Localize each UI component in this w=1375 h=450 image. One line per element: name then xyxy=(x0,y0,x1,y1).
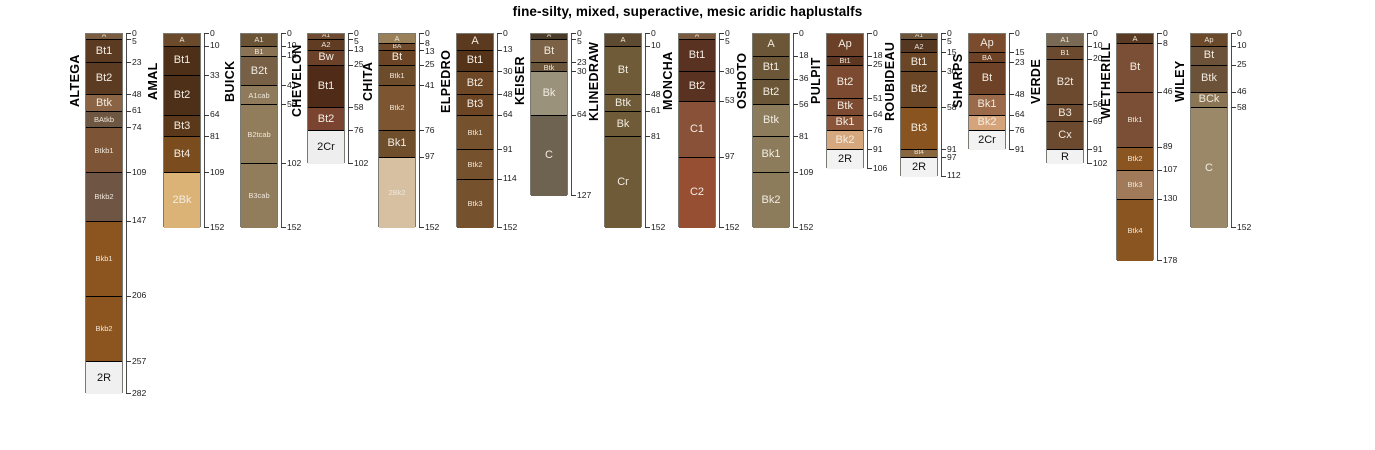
horizon-label: Bk1 xyxy=(388,138,407,149)
profile-column-chita[interactable]: ABABtBtk1Btk2Bk12Bk2 xyxy=(378,33,416,227)
horizon-2bk[interactable]: 2Bk xyxy=(164,173,200,228)
depth-tick xyxy=(1157,147,1162,148)
depth-tick xyxy=(1009,33,1014,34)
depth-label: 48 xyxy=(132,90,142,99)
horizon-label: A xyxy=(394,35,399,43)
horizon-btk2[interactable]: Btk2 xyxy=(457,150,493,179)
depth-label: 0 xyxy=(651,29,656,38)
profile-column-buick[interactable]: A1B1B2tA1cabB2tcabB3cab xyxy=(240,33,278,227)
horizon-bkb1[interactable]: Bkb1 xyxy=(86,222,122,297)
depth-tick xyxy=(281,56,286,57)
horizon-2bk2[interactable]: 2Bk2 xyxy=(379,158,415,228)
depth-tick xyxy=(1157,43,1162,44)
depth-tick xyxy=(941,52,946,53)
horizon-a[interactable]: A xyxy=(379,34,415,44)
horizon-label: Bw xyxy=(318,52,333,63)
depth-tick xyxy=(126,393,131,394)
depth-label: 13 xyxy=(503,45,513,54)
depth-label: 0 xyxy=(425,29,430,38)
horizon-ap[interactable]: Ap xyxy=(1191,34,1227,47)
depth-tick xyxy=(419,227,424,228)
horizon-a2[interactable]: A2 xyxy=(901,40,937,53)
horizon-label: Bk xyxy=(543,88,556,99)
profile-column-moncha[interactable]: ABt1Bt2C1C2 xyxy=(678,33,716,227)
depth-tick xyxy=(793,104,798,105)
depth-tick xyxy=(204,33,209,34)
profile-column-amal[interactable]: ABt1Bt2Bt3Bt42Bk xyxy=(163,33,201,227)
depth-label: 0 xyxy=(1163,29,1168,38)
depth-label: 10 xyxy=(651,41,661,50)
depth-tick xyxy=(867,65,872,66)
depth-label: 282 xyxy=(132,389,146,398)
profile-name-wetherill: WETHERILL xyxy=(1099,33,1113,129)
depth-tick xyxy=(126,127,131,128)
depth-tick xyxy=(126,33,131,34)
depth-tick xyxy=(1009,52,1014,53)
horizon-bt2[interactable]: Bt2 xyxy=(86,63,122,95)
profile-column-verde[interactable]: A1B1B2tB3CxR xyxy=(1046,33,1084,163)
horizon-bt[interactable]: Bt xyxy=(1191,47,1227,66)
horizon-bt1[interactable]: Bt1 xyxy=(901,53,937,72)
depth-tick xyxy=(419,43,424,44)
horizon-label: Bt4 xyxy=(174,149,191,160)
depth-label: 36 xyxy=(799,74,809,83)
horizon-label: B3 xyxy=(1058,108,1071,119)
horizon-label: Bt1 xyxy=(689,50,706,61)
horizon-btk1[interactable]: Btk1 xyxy=(379,66,415,86)
horizon-r[interactable]: R xyxy=(1047,150,1083,164)
horizon-label: C1 xyxy=(690,124,704,135)
horizon-bk1[interactable]: Bk1 xyxy=(827,116,863,131)
horizon-bk1[interactable]: Bk1 xyxy=(969,95,1005,115)
depth-tick xyxy=(348,39,353,40)
depth-tick xyxy=(497,179,502,180)
horizon-label: Btk xyxy=(615,98,631,109)
horizon-label: Btk xyxy=(763,115,779,126)
depth-tick xyxy=(348,130,353,131)
depth-label: 61 xyxy=(132,106,142,115)
horizon-btk[interactable]: Btk xyxy=(531,63,567,72)
horizon-a1[interactable]: A1 xyxy=(1047,34,1083,47)
depth-label: 15 xyxy=(1015,48,1025,57)
depth-axis-moncha xyxy=(719,33,720,227)
horizon-2cr[interactable]: 2Cr xyxy=(308,131,344,164)
depth-tick xyxy=(941,176,946,177)
horizon-label: Bk1 xyxy=(762,149,781,160)
horizon-b2t[interactable]: B2t xyxy=(1047,60,1083,106)
horizon-label: Bk2 xyxy=(978,117,997,128)
horizon-b3[interactable]: B3 xyxy=(1047,105,1083,122)
horizon-btk[interactable]: Btk xyxy=(605,95,641,112)
depth-label: 91 xyxy=(1015,145,1025,154)
profile-column-pulpit[interactable]: ApBt1Bt2BtkBk1Bk22R xyxy=(826,33,864,168)
depth-tick xyxy=(941,107,946,108)
depth-tick xyxy=(126,62,131,63)
depth-label: 127 xyxy=(577,191,591,200)
horizon-label: A1 xyxy=(322,34,330,40)
profile-name-altega: ALTEGA xyxy=(68,33,82,129)
depth-label: 112 xyxy=(947,171,961,180)
horizon-bt[interactable]: Bt xyxy=(605,47,641,96)
horizon-2cr[interactable]: 2Cr xyxy=(969,131,1005,150)
horizon-label: Bk xyxy=(617,119,630,130)
horizon-a[interactable]: A xyxy=(164,34,200,47)
depth-axis-chevelon xyxy=(348,33,349,163)
horizon-a[interactable]: A xyxy=(457,34,493,51)
horizon-label: C xyxy=(545,150,553,161)
horizon-label: Bt1 xyxy=(174,55,191,66)
depth-tick xyxy=(793,172,798,173)
horizon-btk1[interactable]: Btk1 xyxy=(1117,93,1153,148)
horizon-bt3[interactable]: Bt3 xyxy=(164,116,200,138)
horizon-bk2[interactable]: Bk2 xyxy=(969,116,1005,131)
depth-label: 0 xyxy=(873,29,878,38)
depth-axis-klinedraw xyxy=(645,33,646,227)
depth-label: 64 xyxy=(210,110,220,119)
depth-tick xyxy=(1087,46,1092,47)
depth-tick xyxy=(645,227,650,228)
depth-label: 0 xyxy=(210,29,215,38)
horizon-bt[interactable]: Bt xyxy=(1117,44,1153,93)
depth-tick xyxy=(719,101,724,102)
horizon-2r[interactable]: 2R xyxy=(901,158,937,177)
horizon-a1[interactable]: A1 xyxy=(241,34,277,47)
depth-tick xyxy=(1087,59,1092,60)
horizon-bt1[interactable]: Bt1 xyxy=(457,51,493,73)
horizon-c1[interactable]: C1 xyxy=(679,102,715,158)
horizon-label: 2R xyxy=(912,162,926,173)
depth-label: 76 xyxy=(873,126,883,135)
profile-column-chevelon[interactable]: A1A2BwBt1Bt22Cr xyxy=(307,33,345,163)
profile-column-sharps[interactable]: ApBABtBk1Bk22Cr xyxy=(968,33,1006,149)
depth-label: 147 xyxy=(132,216,146,225)
depth-tick xyxy=(571,39,576,40)
depth-label: 48 xyxy=(503,90,513,99)
depth-axis-amal xyxy=(204,33,205,227)
profile-name-wiley: WILEY xyxy=(1173,33,1187,129)
depth-label: 33 xyxy=(210,71,220,80)
horizon-label: 2Cr xyxy=(317,142,335,153)
depth-tick xyxy=(867,168,872,169)
depth-label: 152 xyxy=(1237,223,1251,232)
depth-tick xyxy=(1157,170,1162,171)
horizon-bt2[interactable]: Bt2 xyxy=(753,80,789,106)
depth-tick xyxy=(126,39,131,40)
horizon-label: Bk1 xyxy=(978,99,997,110)
horizon-a[interactable]: A xyxy=(605,34,641,47)
horizon-bk[interactable]: Bk xyxy=(531,72,567,115)
depth-tick xyxy=(867,98,872,99)
profile-name-chevelon: CHEVELON xyxy=(290,33,304,129)
horizon-bt1[interactable]: Bt1 xyxy=(827,57,863,66)
depth-label: 8 xyxy=(1163,39,1168,48)
horizon-a1cab[interactable]: A1cab xyxy=(241,86,277,105)
horizon-bt1[interactable]: Bt1 xyxy=(164,47,200,76)
depth-tick xyxy=(1157,92,1162,93)
depth-tick xyxy=(867,56,872,57)
horizon-bt4[interactable]: Bt4 xyxy=(164,137,200,173)
profile-column-elpedro[interactable]: ABt1Bt2Bt3Btk1Btk2Btk3 xyxy=(456,33,494,227)
depth-tick xyxy=(1231,33,1236,34)
horizon-cx[interactable]: Cx xyxy=(1047,122,1083,150)
depth-tick xyxy=(419,130,424,131)
horizon-label: Bt2 xyxy=(689,81,706,92)
depth-axis-altega xyxy=(126,33,127,393)
depth-label: 0 xyxy=(1093,29,1098,38)
horizon-label: Btk1 xyxy=(1127,116,1142,124)
horizon-bt1[interactable]: Bt1 xyxy=(308,66,344,108)
depth-axis-buick xyxy=(281,33,282,227)
depth-tick xyxy=(1157,33,1162,34)
depth-label: 76 xyxy=(1015,126,1025,135)
depth-label: 25 xyxy=(425,60,435,69)
horizon-batkb[interactable]: BAtkb xyxy=(86,112,122,129)
depth-label: 61 xyxy=(651,106,661,115)
horizon-bk2[interactable]: Bk2 xyxy=(753,173,789,228)
depth-label: 0 xyxy=(1237,29,1242,38)
depth-label: 0 xyxy=(1015,29,1020,38)
horizon-label: Btk4 xyxy=(1127,227,1142,235)
horizon-label: Btk1 xyxy=(389,72,404,80)
depth-tick xyxy=(204,46,209,47)
horizon-btk[interactable]: Btk xyxy=(1191,66,1227,93)
depth-label: 152 xyxy=(503,223,517,232)
horizon-bt[interactable]: Bt xyxy=(969,63,1005,95)
depth-label: 74 xyxy=(132,123,142,132)
depth-label: 30 xyxy=(577,67,587,76)
depth-axis-wiley xyxy=(1231,33,1232,227)
profile-column-klinedraw[interactable]: ABtBtkBkCr xyxy=(604,33,642,227)
horizon-label: Bkb1 xyxy=(95,255,112,263)
horizon-c2[interactable]: C2 xyxy=(679,158,715,228)
horizon-label: Bt2 xyxy=(96,73,113,84)
depth-label: 152 xyxy=(210,223,224,232)
horizon-bw[interactable]: Bw xyxy=(308,51,344,66)
horizon-label: C2 xyxy=(690,187,704,198)
horizon-btk3[interactable]: Btk3 xyxy=(1117,171,1153,200)
horizon-label: Bt xyxy=(618,65,628,76)
horizon-bt2[interactable]: Bt2 xyxy=(164,76,200,116)
horizon-label: Bt2 xyxy=(318,114,335,125)
profile-column-wetherill[interactable]: ABtBtk1Btk2Btk3Btk4 xyxy=(1116,33,1154,260)
horizon-label: Bt3 xyxy=(911,123,928,134)
horizon-a[interactable]: A xyxy=(753,34,789,57)
horizon-label: B1 xyxy=(1060,49,1069,57)
depth-label: 152 xyxy=(651,223,665,232)
depth-label: 97 xyxy=(725,152,735,161)
profile-column-wiley[interactable]: ApBtBtkBCkC xyxy=(1190,33,1228,227)
horizon-label: Btk3 xyxy=(1127,181,1142,189)
horizon-bt2[interactable]: Bt2 xyxy=(457,72,493,95)
profile-name-elpedro: ELPEDRO xyxy=(439,33,453,129)
depth-label: 41 xyxy=(425,81,435,90)
profile-column-altega[interactable]: ABt1Bt2BtkBAtkbBtkb1Btkb2Bkb1Bkb22R xyxy=(85,33,123,393)
depth-tick xyxy=(793,56,798,57)
horizon-2r[interactable]: 2R xyxy=(86,362,122,394)
profile-name-verde: VERDE xyxy=(1029,33,1043,129)
horizon-label: A xyxy=(471,36,478,47)
horizon-btk[interactable]: Btk xyxy=(753,105,789,137)
horizon-label: Bt1 xyxy=(763,62,780,73)
horizon-label: 2Cr xyxy=(978,135,996,146)
profile-name-amal: AMAL xyxy=(146,33,160,129)
depth-tick xyxy=(348,65,353,66)
horizon-b3cab[interactable]: B3cab xyxy=(241,164,277,228)
profile-column-oshoto[interactable]: ABt1Bt2BtkBk1Bk2 xyxy=(752,33,790,227)
depth-tick xyxy=(281,33,286,34)
profile-column-keiser[interactable]: ABtBtkBkC xyxy=(530,33,568,195)
horizon-label: Btk1 xyxy=(467,129,482,137)
horizon-label: Btk xyxy=(1201,73,1217,84)
horizon-label: A xyxy=(695,34,699,40)
horizon-ba[interactable]: BA xyxy=(969,53,1005,63)
horizon-a[interactable]: A xyxy=(1117,34,1153,44)
horizon-c[interactable]: C xyxy=(531,116,567,196)
profile-name-oshoto: OSHOTO xyxy=(735,33,749,129)
depth-label: 114 xyxy=(503,174,517,183)
depth-label: 64 xyxy=(1015,110,1025,119)
horizon-bt1[interactable]: Bt1 xyxy=(753,57,789,80)
horizon-btk[interactable]: Btk xyxy=(827,99,863,116)
depth-tick xyxy=(1009,149,1014,150)
depth-tick xyxy=(867,130,872,131)
horizon-btk4[interactable]: Btk4 xyxy=(1117,200,1153,261)
depth-label: 257 xyxy=(132,357,146,366)
depth-label: 13 xyxy=(425,47,435,56)
horizon-label: A xyxy=(620,36,625,44)
horizon-b1[interactable]: B1 xyxy=(241,47,277,57)
horizon-b2tcab[interactable]: B2tcab xyxy=(241,105,277,164)
depth-label: 0 xyxy=(799,29,804,38)
horizon-label: Bt xyxy=(544,46,554,57)
depth-tick xyxy=(645,136,650,137)
horizon-btk3[interactable]: Btk3 xyxy=(457,180,493,229)
depth-tick xyxy=(1087,33,1092,34)
horizon-bk1[interactable]: Bk1 xyxy=(753,137,789,173)
depth-tick xyxy=(497,33,502,34)
horizon-label: 2Bk2 xyxy=(388,189,405,197)
horizon-bk[interactable]: Bk xyxy=(605,112,641,138)
profile-column-roubideau[interactable]: A1A2Bt1Bt2Bt3Bt42R xyxy=(900,33,938,176)
depth-tick xyxy=(1009,130,1014,131)
soil-profile-plot: ALTEGAABt1Bt2BtkBAtkbBtkb1Btkb2Bkb1Bkb22… xyxy=(0,0,1375,450)
horizon-label: A xyxy=(1132,35,1137,43)
depth-tick xyxy=(126,296,131,297)
depth-label: 56 xyxy=(799,100,809,109)
depth-label: 46 xyxy=(1237,87,1247,96)
depth-tick xyxy=(1231,92,1236,93)
depth-label: 130 xyxy=(1163,194,1177,203)
horizon-bt2[interactable]: Bt2 xyxy=(901,72,937,108)
horizon-bt1[interactable]: Bt1 xyxy=(679,40,715,72)
depth-tick xyxy=(126,111,131,112)
horizon-bk1[interactable]: Bk1 xyxy=(379,131,415,158)
depth-tick xyxy=(1009,115,1014,116)
depth-label: 23 xyxy=(1015,58,1025,67)
horizon-bt4[interactable]: Bt4 xyxy=(901,150,937,158)
horizon-btkb1[interactable]: Btkb1 xyxy=(86,128,122,173)
horizon-bt[interactable]: Bt xyxy=(379,51,415,66)
depth-tick xyxy=(419,85,424,86)
depth-tick xyxy=(1009,62,1014,63)
horizon-label: A1 xyxy=(254,36,263,44)
depth-tick xyxy=(719,39,724,40)
horizon-label: R xyxy=(1061,152,1069,163)
depth-tick xyxy=(348,107,353,108)
horizon-bt3[interactable]: Bt3 xyxy=(457,95,493,115)
horizon-label: Bt2 xyxy=(837,77,854,88)
depth-label: 48 xyxy=(651,90,661,99)
horizon-label: Bt xyxy=(392,52,402,63)
horizon-label: BCk xyxy=(1199,94,1220,105)
horizon-btkb2[interactable]: Btkb2 xyxy=(86,173,122,222)
horizon-btk1[interactable]: Btk1 xyxy=(457,116,493,150)
profile-name-keiser: KEISER xyxy=(513,33,527,129)
depth-tick xyxy=(497,50,502,51)
depth-tick xyxy=(645,94,650,95)
depth-label: 102 xyxy=(287,159,301,168)
depth-axis-pulpit xyxy=(867,33,868,168)
horizon-label: Ap xyxy=(980,38,993,49)
horizon-bk2[interactable]: Bk2 xyxy=(827,131,863,150)
horizon-bt2[interactable]: Bt2 xyxy=(308,108,344,131)
horizon-b1[interactable]: B1 xyxy=(1047,47,1083,60)
depth-tick xyxy=(867,115,872,116)
depth-tick xyxy=(793,227,798,228)
depth-label: 107 xyxy=(1163,165,1177,174)
depth-tick xyxy=(348,33,353,34)
horizon-bt2[interactable]: Bt2 xyxy=(827,66,863,99)
depth-tick xyxy=(281,104,286,105)
horizon-btk2[interactable]: Btk2 xyxy=(379,86,415,131)
horizon-ap[interactable]: Ap xyxy=(969,34,1005,53)
horizon-a2[interactable]: A2 xyxy=(308,40,344,50)
horizon-label: Btk xyxy=(544,64,555,72)
horizon-b2t[interactable]: B2t xyxy=(241,57,277,86)
depth-tick xyxy=(941,149,946,150)
horizon-label: A1 xyxy=(915,34,923,40)
depth-tick xyxy=(348,50,353,51)
horizon-label: Bk2 xyxy=(836,135,855,146)
depth-tick xyxy=(497,115,502,116)
horizon-bt1[interactable]: Bt1 xyxy=(86,40,122,63)
depth-tick xyxy=(419,65,424,66)
depth-label: 89 xyxy=(1163,142,1173,151)
horizon-bt2[interactable]: Bt2 xyxy=(679,72,715,101)
horizon-label: Bt3 xyxy=(467,99,484,110)
horizon-btk2[interactable]: Btk2 xyxy=(1117,148,1153,171)
depth-axis-verde xyxy=(1087,33,1088,163)
depth-tick xyxy=(281,85,286,86)
horizon-label: Ap xyxy=(1204,36,1213,44)
depth-label: 81 xyxy=(210,132,220,141)
depth-label: 5 xyxy=(577,37,582,46)
horizon-bt3[interactable]: Bt3 xyxy=(901,108,937,150)
horizon-cr[interactable]: Cr xyxy=(605,137,641,228)
horizon-label: A1 xyxy=(1060,36,1069,44)
depth-tick xyxy=(719,33,724,34)
horizon-bkb2[interactable]: Bkb2 xyxy=(86,297,122,362)
horizon-bck[interactable]: BCk xyxy=(1191,93,1227,108)
horizon-c[interactable]: C xyxy=(1191,108,1227,228)
horizon-2r[interactable]: 2R xyxy=(827,150,863,169)
horizon-bt[interactable]: Bt xyxy=(531,40,567,63)
depth-tick xyxy=(497,227,502,228)
depth-label: 10 xyxy=(210,41,220,50)
horizon-ap[interactable]: Ap xyxy=(827,34,863,57)
horizon-label: Ap xyxy=(838,39,851,50)
horizon-btk[interactable]: Btk xyxy=(86,95,122,112)
